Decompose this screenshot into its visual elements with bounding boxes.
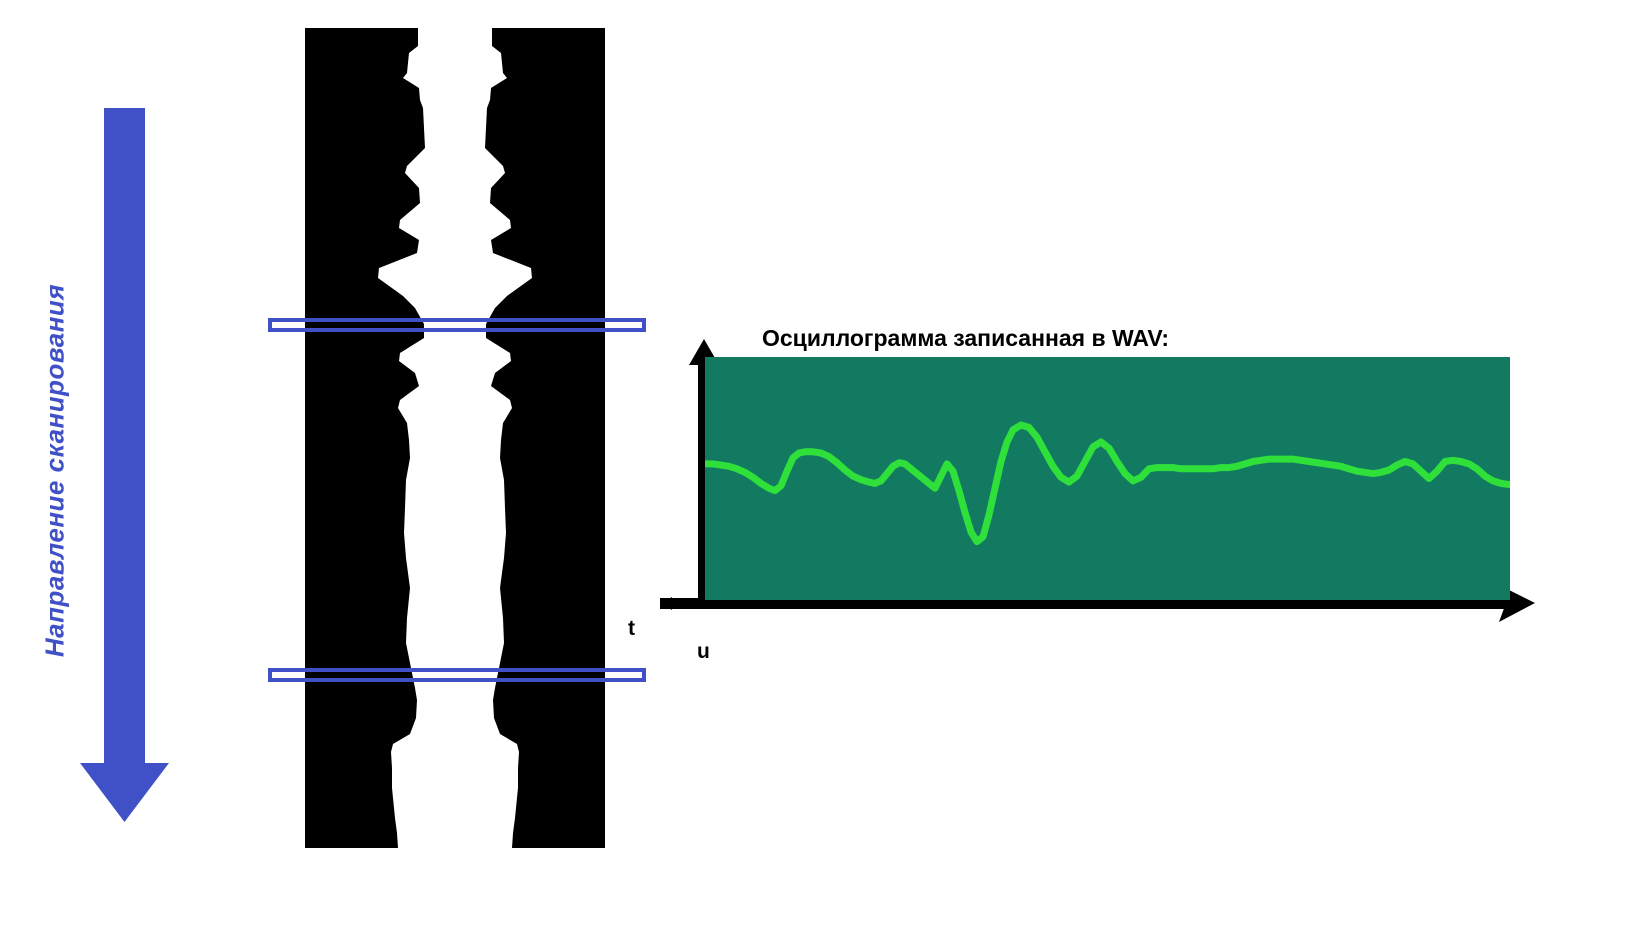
oscillogram-panel: Осциллограмма записанная в WAV: t u — [620, 315, 1638, 715]
y-axis-label: u — [697, 640, 710, 664]
oscillogram-plot-area — [705, 357, 1510, 600]
down-arrow-icon — [0, 0, 200, 924]
scan-direction-group — [0, 0, 200, 924]
slice-marker-bottom[interactable] — [268, 668, 646, 682]
scanned-track-strip — [305, 28, 605, 848]
x-axis-label: t — [628, 617, 635, 641]
wav-waveform-line — [705, 357, 1510, 600]
scanned-waveform-band — [305, 28, 605, 848]
slice-marker-top[interactable] — [268, 318, 646, 332]
scan-direction-label: Направление сканирования — [40, 211, 71, 731]
